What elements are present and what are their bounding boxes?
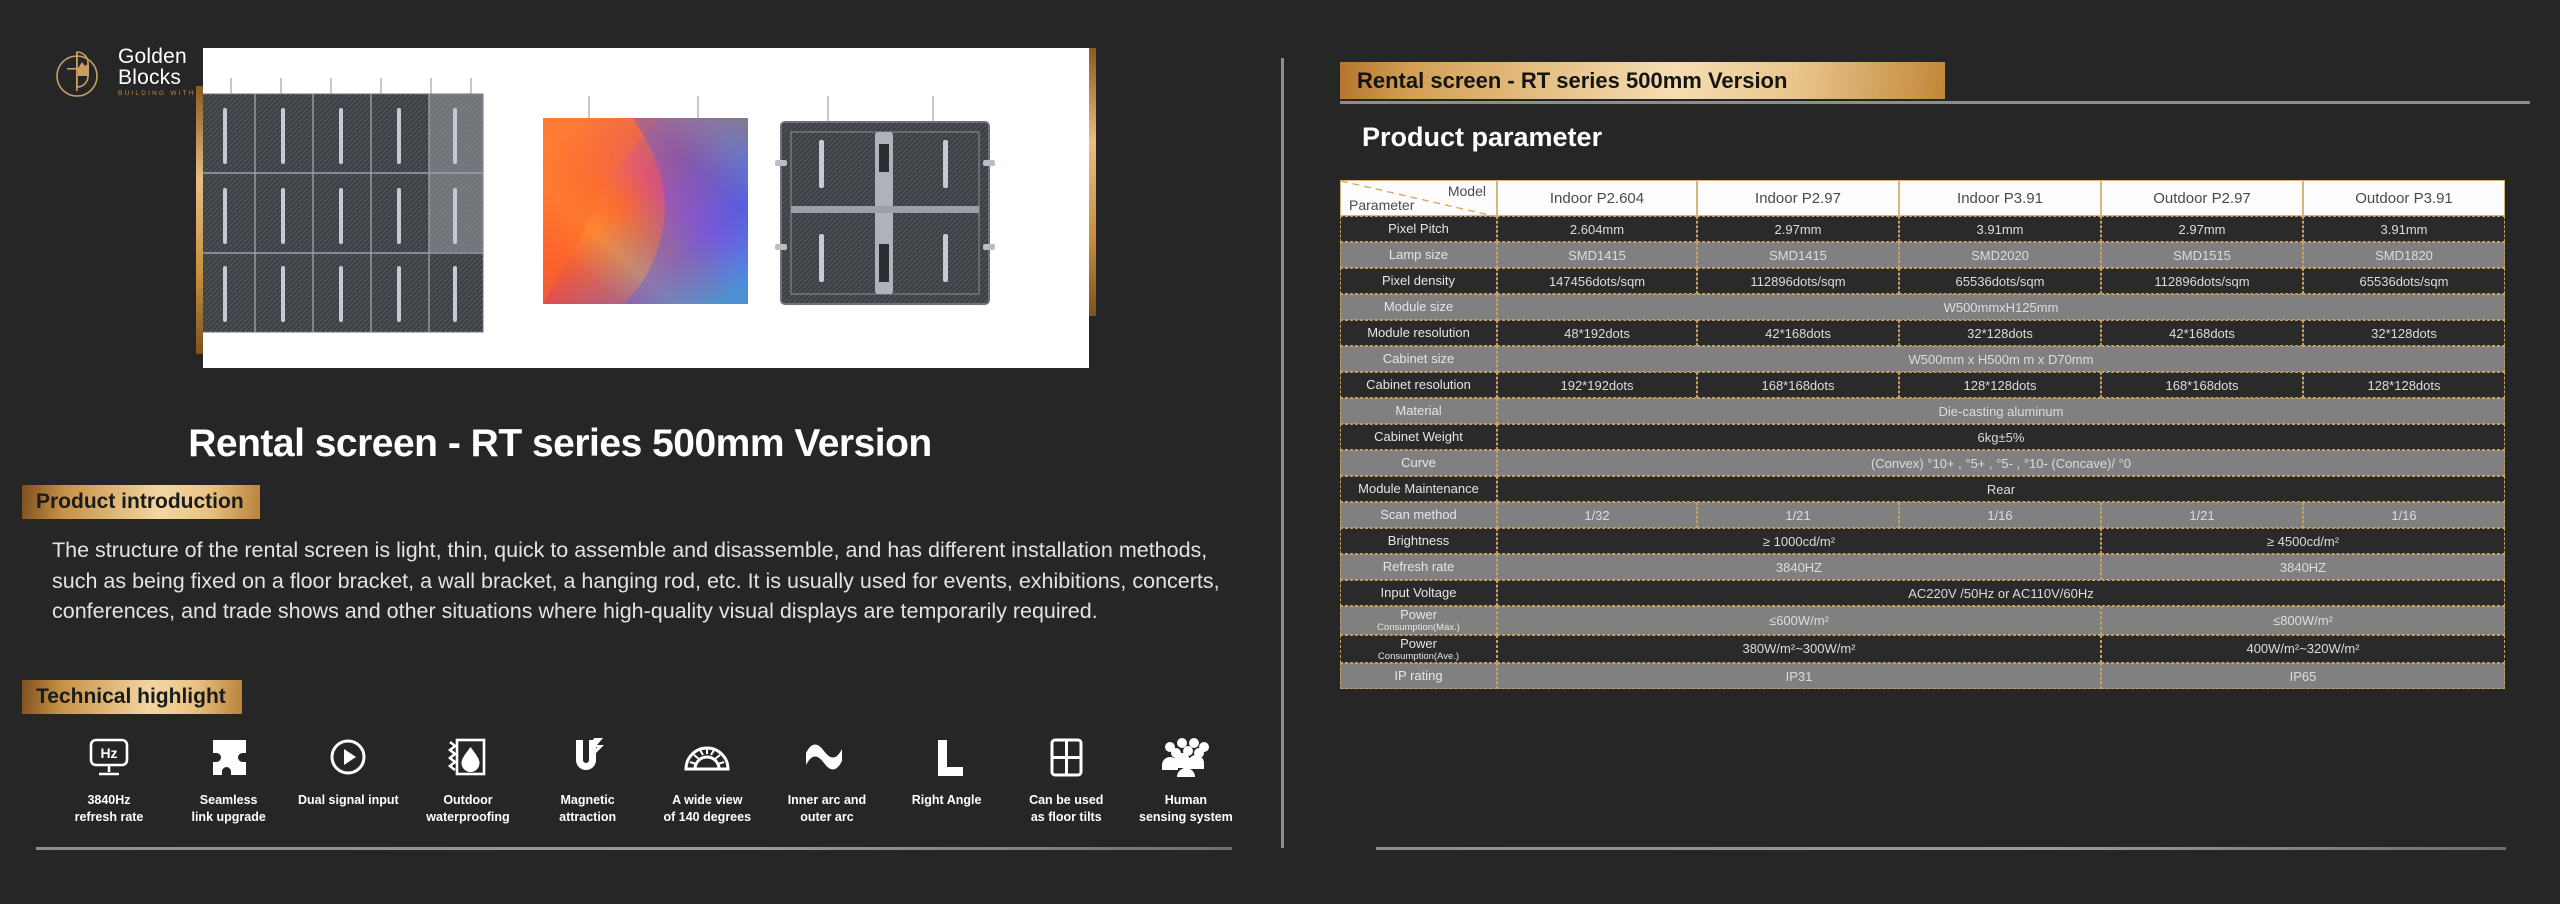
table-row-label: Input Voltage (1340, 580, 1497, 606)
table-row: Scan method1/321/211/161/211/16 (1340, 502, 2505, 528)
table-cell: 168*168dots (2101, 372, 2303, 398)
table-cell: 1/16 (2303, 502, 2505, 528)
table-cell-indoor-group: 3840HZ (1497, 554, 2101, 580)
table-row-label: Module size (1340, 294, 1497, 320)
hz-monitor-icon: Hz (87, 735, 131, 781)
product-parameter-table: ModelParameterIndoor P2.604Indoor P2.97I… (1340, 180, 2505, 689)
feature-floor-tilts[interactable]: Can be used as floor tilts (1007, 735, 1125, 825)
table-row: Pixel density147456dots/sqm112896dots/sq… (1340, 268, 2505, 294)
table-row: Module MaintenanceRear (1340, 476, 2505, 502)
product-introduction-text: The structure of the rental screen is li… (52, 535, 1242, 627)
people-group-icon (1160, 735, 1212, 781)
feature-seamless-link[interactable]: Seamless link upgrade (170, 735, 288, 825)
table-row-label: Cabinet resolution (1340, 372, 1497, 398)
left-bottom-divider (36, 847, 1232, 850)
feature-label: Inner arc and outer arc (788, 792, 867, 825)
table-corner-parameter: Parameter (1349, 197, 1414, 213)
table-row-label: Brightness (1340, 528, 1497, 554)
table-row: Cabinet Weight6kg±5% (1340, 424, 2505, 450)
table-cell: 3.91mm (2303, 216, 2505, 242)
table-cell-span-all: AC220V /50Hz or AC110V/60Hz (1497, 580, 2505, 606)
table-cell: 128*128dots (1899, 372, 2101, 398)
table-cell: 2.97mm (2101, 216, 2303, 242)
table-cell: 65536dots/sqm (1899, 268, 2101, 294)
right-panel: Rental screen - RT series 500mm Version … (1340, 0, 2520, 904)
svg-text:Hz: Hz (100, 745, 117, 761)
table-cell: 65536dots/sqm (2303, 268, 2505, 294)
table-row: Cabinet sizeW500mm x H500m m x D70mm (1340, 346, 2505, 372)
table-cell: 42*168dots (2101, 320, 2303, 346)
table-cell: 147456dots/sqm (1497, 268, 1697, 294)
table-cell: 1/32 (1497, 502, 1697, 528)
table-row: Pixel Pitch2.604mm2.97mm3.91mm2.97mm3.91… (1340, 216, 2505, 242)
section-title: Product parameter (1362, 122, 1602, 153)
table-row-label: Lamp size (1340, 242, 1497, 268)
table-cell: 128*128dots (2303, 372, 2505, 398)
table-column-header: Outdoor P2.97 (2101, 180, 2303, 216)
table-row-label: Module resolution (1340, 320, 1497, 346)
table-cell-indoor-group: 380W/m²~300W/m² (1497, 635, 2101, 664)
panel-rear-cabinet (775, 96, 995, 304)
feature-label: Can be used as floor tilts (1029, 792, 1103, 825)
feature-outdoor-waterproofing[interactable]: Outdoor waterproofing (409, 735, 527, 825)
table-row: IP ratingIP31IP65 (1340, 663, 2505, 689)
table-row-label: Pixel density (1340, 268, 1497, 294)
table-cell-span-all: Die-casting aluminum (1497, 398, 2505, 424)
table-cell-outdoor-group: 3840HZ (2101, 554, 2505, 580)
table-row: Cabinet resolution192*192dots168*168dots… (1340, 372, 2505, 398)
table-cell: 3.91mm (1899, 216, 2101, 242)
table-cell: 1/21 (2101, 502, 2303, 528)
table-row: Brightness≥ 1000cd/m²≥ 4500cd/m² (1340, 528, 2505, 554)
table-cell: 42*168dots (1697, 320, 1899, 346)
table-cell: 48*192dots (1497, 320, 1697, 346)
panel-gradient-display (543, 96, 748, 304)
table-column-header: Indoor P2.604 (1497, 180, 1697, 216)
feature-dual-signal-input[interactable]: Dual signal input (289, 735, 407, 809)
table-row: Module sizeW500mmxH125mm (1340, 294, 2505, 320)
product-photo (196, 48, 1096, 400)
table-cell: 168*168dots (1697, 372, 1899, 398)
water-drop-icon (446, 735, 490, 781)
product-photo-canvas (203, 48, 1089, 368)
table-cell: 2.604mm (1497, 216, 1697, 242)
feature-label: Outdoor waterproofing (426, 792, 509, 825)
wave-icon (803, 735, 851, 781)
feature-icon-row: Hz 3840Hz refresh rate Seamless link upg… (50, 735, 1245, 825)
table-cell: 192*192dots (1497, 372, 1697, 398)
feature-label: 3840Hz refresh rate (75, 792, 144, 825)
feature-inner-outer-arc[interactable]: Inner arc and outer arc (768, 735, 886, 825)
table-column-header: Outdoor P3.91 (2303, 180, 2505, 216)
product-introduction-band: Product introduction (22, 485, 260, 519)
slide-page: Golden Blocks BUILDING WITH VISION (0, 0, 2560, 904)
puzzle-piece-icon (207, 735, 251, 781)
right-title-band: Rental screen - RT series 500mm Version (1340, 62, 1945, 99)
table-cell-outdoor-group: ≥ 4500cd/m² (2101, 528, 2505, 554)
table-row-label: PowerConsumption(Ave.) (1340, 635, 1497, 664)
grid-panel-icon (1044, 735, 1088, 781)
feature-wide-view[interactable]: A wide view of 140 degrees (648, 735, 766, 825)
table-row-label: Pixel Pitch (1340, 216, 1497, 242)
table-cell-outdoor-group: ≤800W/m² (2101, 606, 2505, 635)
play-circle-icon (326, 735, 370, 781)
table-cell-span-all: W500mm x H500m m x D70mm (1497, 346, 2505, 372)
table-cell: 112896dots/sqm (2101, 268, 2303, 294)
table-cell: SMD1820 (2303, 242, 2505, 268)
table-row-label: Curve (1340, 450, 1497, 476)
table-cell-indoor-group: ≥ 1000cd/m² (1497, 528, 2101, 554)
table-row-label: Refresh rate (1340, 554, 1497, 580)
table-cell-span-all: W500mmxH125mm (1497, 294, 2505, 320)
table-row: Input VoltageAC220V /50Hz or AC110V/60Hz (1340, 580, 2505, 606)
table-cell-indoor-group: ≤600W/m² (1497, 606, 2101, 635)
feature-human-sensing[interactable]: Human sensing system (1127, 735, 1245, 825)
table-cell: 32*128dots (1899, 320, 2101, 346)
feature-label: Right Angle (912, 792, 982, 809)
table-corner-cell: ModelParameter (1340, 180, 1497, 216)
feature-label: A wide view of 140 degrees (664, 792, 752, 825)
table-column-header: Indoor P2.97 (1697, 180, 1899, 216)
feature-label: Dual signal input (298, 792, 399, 809)
table-row-label: Scan method (1340, 502, 1497, 528)
table-cell-indoor-group: IP31 (1497, 663, 2101, 689)
table-column-header: Indoor P3.91 (1899, 180, 2101, 216)
table-row: Refresh rate3840HZ3840HZ (1340, 554, 2505, 580)
hero-title: Rental screen - RT series 500mm Version (0, 422, 1120, 466)
table-corner-model: Model (1448, 183, 1486, 199)
table-cell: 2.97mm (1697, 216, 1899, 242)
table-cell: 112896dots/sqm (1697, 268, 1899, 294)
right-bottom-divider (1376, 847, 2506, 850)
table-row-label: Cabinet Weight (1340, 424, 1497, 450)
table-cell-outdoor-group: IP65 (2101, 663, 2505, 689)
table-cell: SMD1415 (1697, 242, 1899, 268)
table-row: Module resolution48*192dots42*168dots32*… (1340, 320, 2505, 346)
golden-blocks-logo-icon (52, 42, 106, 102)
table-row-label: PowerConsumption(Max.) (1340, 606, 1497, 635)
feature-magnetic-attraction[interactable]: Magnetic attraction (529, 735, 647, 825)
table-row: Curve(Convex) °10+ , °5+ , °5- , °10- (C… (1340, 450, 2505, 476)
left-panel: Golden Blocks BUILDING WITH VISION (0, 0, 1281, 904)
feature-right-angle[interactable]: Right Angle (888, 735, 1006, 809)
table-row-label: IP rating (1340, 663, 1497, 689)
vertical-divider (1281, 58, 1284, 848)
table-row: Lamp sizeSMD1415SMD1415SMD2020SMD1515SMD… (1340, 242, 2505, 268)
protractor-icon (683, 735, 731, 781)
feature-refresh-rate[interactable]: Hz 3840Hz refresh rate (50, 735, 168, 825)
feature-label: Human sensing system (1139, 792, 1233, 825)
table-cell: SMD1415 (1497, 242, 1697, 268)
table-row-label: Module Maintenance (1340, 476, 1497, 502)
table-cell: 1/21 (1697, 502, 1899, 528)
right-angle-icon (925, 735, 969, 781)
feature-label: Magnetic attraction (559, 792, 616, 825)
table-row: MaterialDie-casting aluminum (1340, 398, 2505, 424)
table-cell: SMD1515 (2101, 242, 2303, 268)
table-cell-span-all: Rear (1497, 476, 2505, 502)
table-cell-outdoor-group: 400W/m²~320W/m² (2101, 635, 2505, 664)
table-cell: 32*128dots (2303, 320, 2505, 346)
table-cell: 1/16 (1899, 502, 2101, 528)
technical-highlight-band: Technical highlight (22, 680, 242, 714)
right-title-underline (1340, 101, 2530, 104)
table-cell: SMD2020 (1899, 242, 2101, 268)
table-header-row: ModelParameterIndoor P2.604Indoor P2.97I… (1340, 180, 2505, 216)
magnet-icon (566, 735, 610, 781)
table-cell-span-all: (Convex) °10+ , °5+ , °5- , °10- (Concav… (1497, 450, 2505, 476)
table-row-label: Material (1340, 398, 1497, 424)
panel-array-front (203, 78, 483, 332)
table-cell-span-all: 6kg±5% (1497, 424, 2505, 450)
table-row: PowerConsumption(Max.)≤600W/m²≤800W/m² (1340, 606, 2505, 635)
feature-label: Seamless link upgrade (191, 792, 265, 825)
table-row: PowerConsumption(Ave.)380W/m²~300W/m²400… (1340, 635, 2505, 664)
table-row-label: Cabinet size (1340, 346, 1497, 372)
